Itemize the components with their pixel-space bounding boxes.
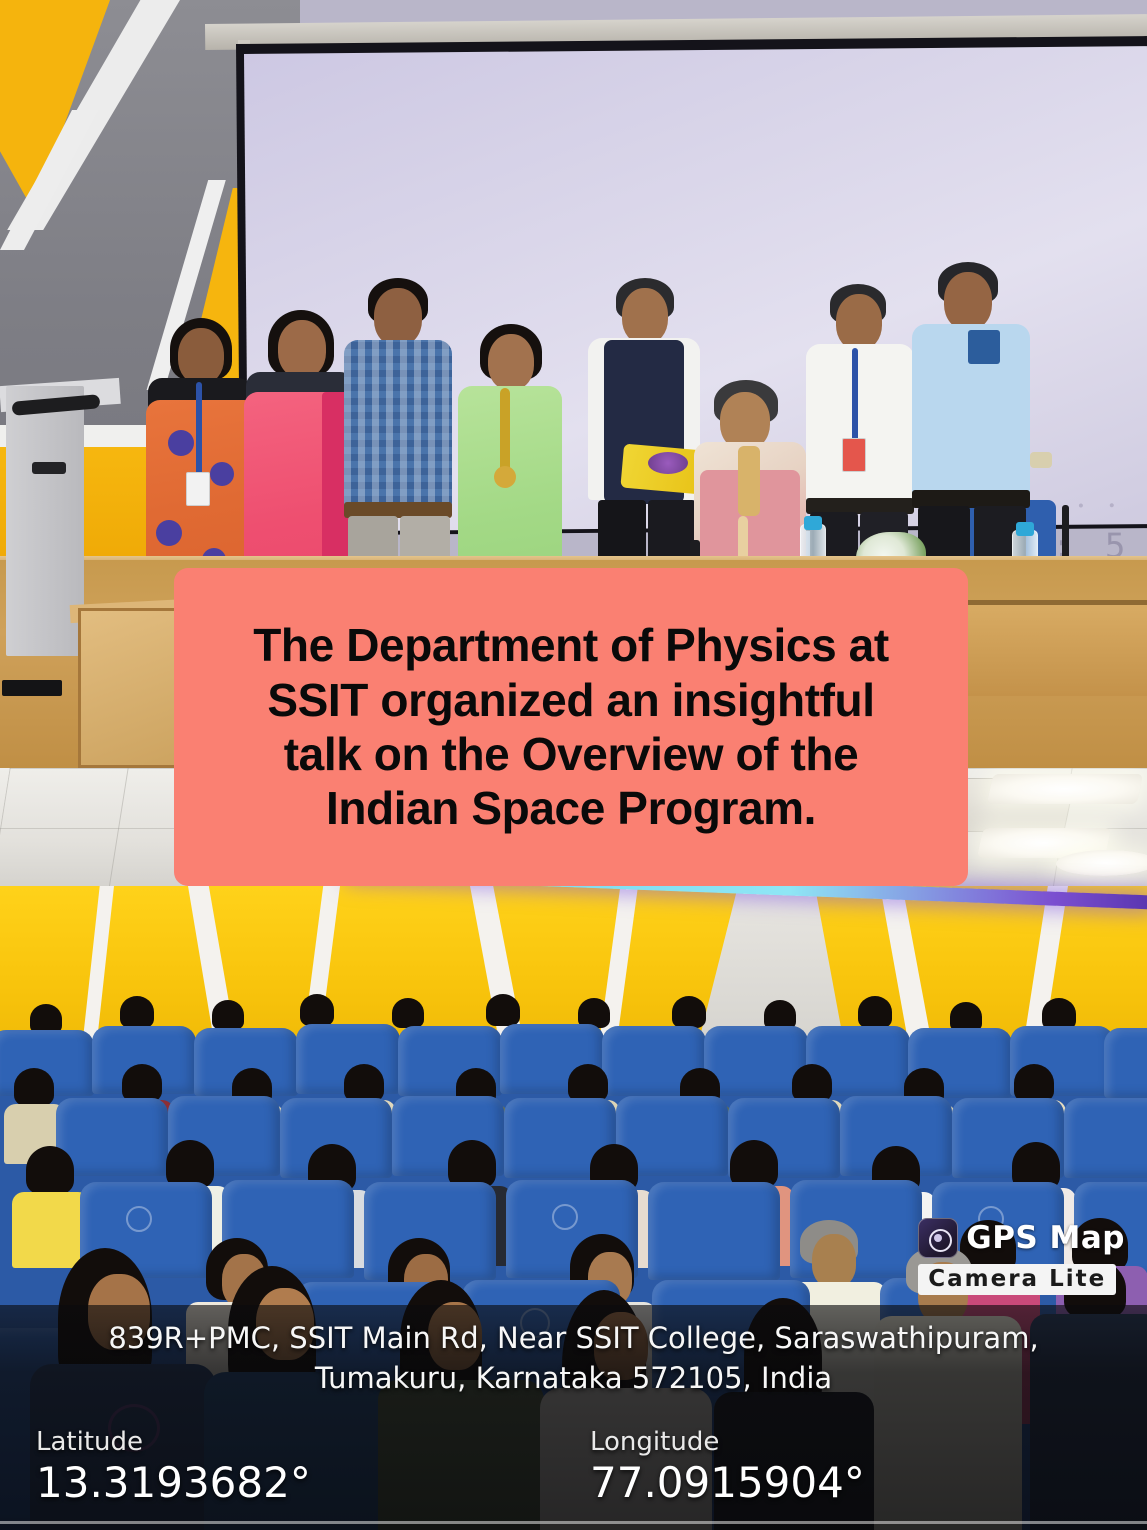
address-text: 839R+PMC, SSIT Main Rd, Near SSIT Colleg…	[0, 1318, 1147, 1398]
lanyard	[196, 382, 202, 478]
audience-head	[392, 998, 424, 1028]
audience-head	[300, 994, 334, 1026]
audience-head	[166, 1140, 214, 1188]
audience-head	[14, 1068, 54, 1106]
face	[278, 320, 326, 378]
bottom-separator-line	[0, 1521, 1147, 1524]
audience-head	[120, 996, 154, 1028]
caption-text: The Department of Physics at SSIT organi…	[231, 618, 911, 835]
audience-head	[672, 996, 706, 1028]
face	[374, 288, 422, 346]
audience-face	[812, 1234, 856, 1288]
audience-head	[344, 1064, 384, 1102]
audience-head	[26, 1146, 74, 1194]
shirt-pocket-pen	[968, 330, 1000, 364]
seat-logo	[126, 1206, 152, 1232]
audience-head	[730, 1140, 778, 1188]
audience-head	[486, 994, 520, 1026]
longitude-value: 77.0915904°	[590, 1459, 865, 1507]
seat-logo	[552, 1204, 578, 1230]
sari-motif	[168, 430, 194, 456]
shirt	[344, 340, 452, 510]
audience-torso	[12, 1192, 90, 1268]
audience-head	[448, 1140, 496, 1188]
face	[622, 288, 668, 344]
gps-app-subtitle: Camera Lite	[918, 1264, 1116, 1295]
bottle-cap	[1016, 522, 1034, 536]
audience-head	[122, 1064, 162, 1102]
podium-base	[2, 680, 62, 696]
audience-head	[212, 1000, 244, 1030]
podium-panel	[32, 462, 66, 474]
audience-head	[792, 1064, 832, 1102]
photo-collage: • • • 4 : 5	[0, 0, 1147, 1530]
camera-aperture-icon	[918, 1218, 958, 1258]
id-card	[842, 438, 866, 472]
face	[488, 334, 534, 390]
audience-head	[1014, 1064, 1054, 1102]
pendant	[494, 466, 516, 488]
latitude-block: Latitude 13.3193682°	[36, 1428, 311, 1507]
bottle-cap	[804, 516, 822, 530]
audience-head	[858, 996, 892, 1028]
caption-overlay-box: The Department of Physics at SSIT organi…	[174, 568, 968, 886]
ceiling-panel-light	[987, 774, 1143, 804]
screen-faint-marks: • • •	[1046, 498, 1123, 515]
auditorium-seat	[1064, 1098, 1147, 1178]
sari-motif	[210, 462, 234, 486]
face	[836, 294, 882, 350]
id-card	[186, 472, 210, 506]
sari-motif	[156, 520, 182, 546]
face	[178, 328, 224, 384]
garland	[738, 446, 760, 516]
wristwatch	[1030, 452, 1052, 468]
latitude-label: Latitude	[36, 1428, 311, 1457]
face	[944, 272, 992, 330]
lanyard	[852, 348, 858, 444]
shawl-flower	[648, 452, 688, 474]
necklace-chain	[500, 388, 510, 474]
audience-head	[568, 1064, 608, 1102]
auditorium-seat	[648, 1182, 780, 1280]
auditorium-seat	[1104, 1028, 1147, 1098]
longitude-label: Longitude	[590, 1428, 865, 1457]
shirt	[806, 344, 914, 506]
longitude-block: Longitude 77.0915904°	[590, 1428, 865, 1507]
gps-map-camera-watermark: GPS Map Camera Lite	[918, 1218, 1125, 1295]
gps-app-title: GPS Map	[966, 1223, 1125, 1254]
latitude-value: 13.3193682°	[36, 1459, 311, 1507]
